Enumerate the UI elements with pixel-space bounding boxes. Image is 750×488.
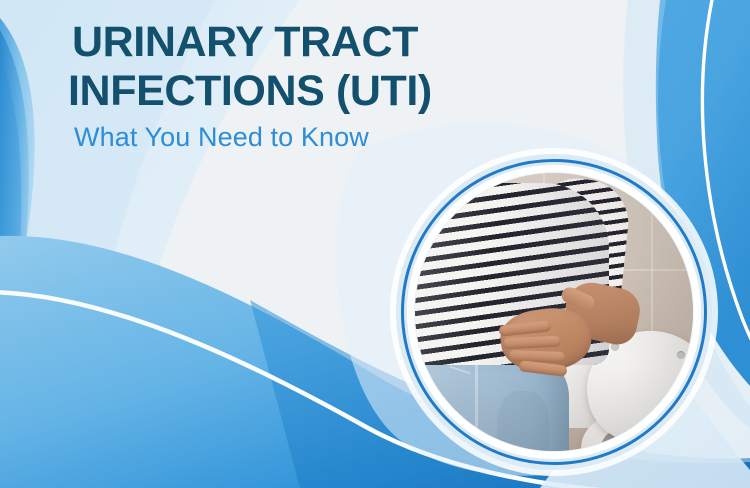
page-subtitle: What You Need to Know	[74, 120, 542, 154]
photo-scene	[415, 173, 693, 451]
page-title-line-2: INFECTIONS (UTI)	[68, 67, 542, 116]
patient-photo	[415, 173, 693, 451]
uti-awareness-banner: URINARY TRACT INFECTIONS (UTI) What You …	[0, 0, 750, 488]
photo-vignette	[415, 173, 693, 451]
page-title-line-1: URINARY TRACT	[72, 18, 542, 67]
headline-block: URINARY TRACT INFECTIONS (UTI) What You …	[72, 18, 542, 154]
